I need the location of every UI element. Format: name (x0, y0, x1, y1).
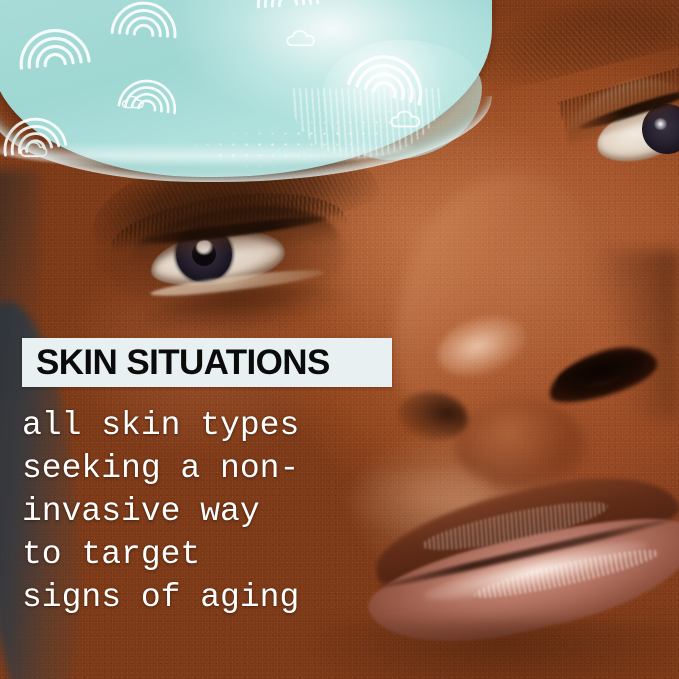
body-copy-line: invasive way (22, 490, 442, 533)
body-copy-line: seeking a non- (22, 447, 442, 490)
cloud-icon (287, 31, 314, 45)
body-copy-line: to target (22, 533, 442, 576)
rainbow-icon (18, 27, 89, 68)
rainbow-icon (112, 1, 177, 37)
headline-banner: SKIN SITUATIONS (22, 338, 392, 387)
page-title: SKIN SITUATIONS (36, 345, 330, 380)
marketing-image: SKIN SITUATIONS all skin typesseeking a … (0, 0, 679, 679)
chin-shadow (300, 620, 679, 679)
body-copy-line: all skin types (22, 404, 442, 447)
nose-side-shadow (600, 250, 679, 420)
spa-headband (0, 0, 492, 177)
rainbow-icon (256, 0, 317, 7)
body-copy: all skin typesseeking a non-invasive way… (22, 404, 442, 619)
body-copy-line: signs of aging (22, 576, 442, 619)
